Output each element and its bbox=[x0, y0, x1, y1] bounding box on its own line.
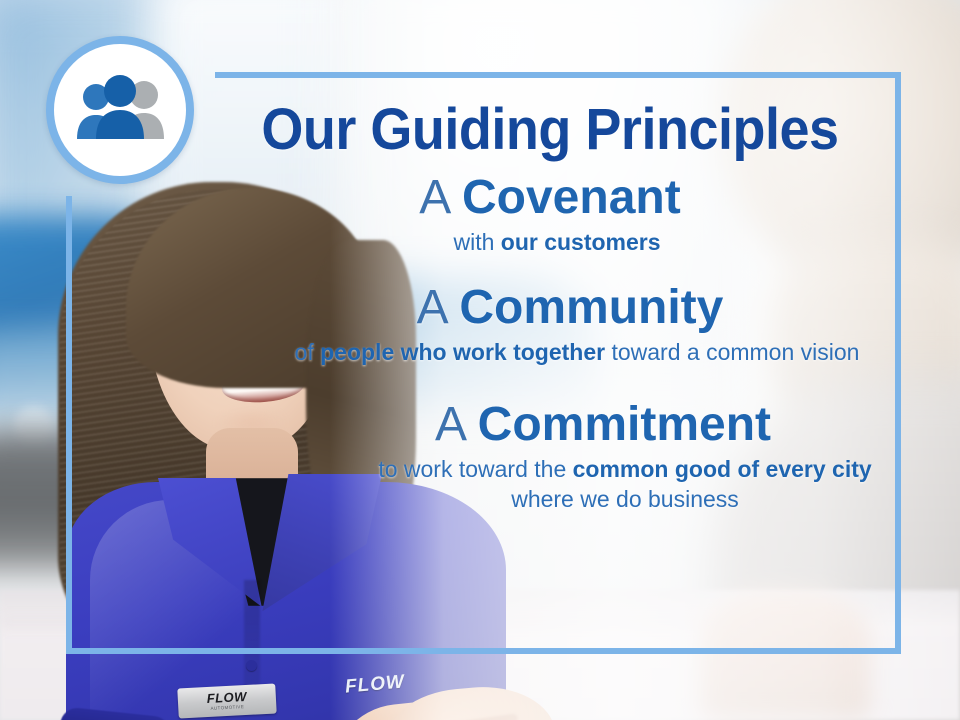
principle-covenant-heading: A Covenant bbox=[200, 173, 900, 223]
principle-covenant: A Covenant with our customers bbox=[200, 173, 900, 257]
principle-community-key: Community bbox=[459, 281, 723, 334]
principle-commitment-heading: A Commitment bbox=[200, 400, 900, 450]
guiding-principles-graphic: FLOW AUTOMOTIVE FLOW bbox=[0, 0, 960, 720]
principle-commitment-body: to work toward the common good of every … bbox=[200, 454, 900, 515]
principle-covenant-key: Covenant bbox=[462, 171, 681, 224]
name-badge-subtext: AUTOMOTIVE bbox=[210, 705, 244, 711]
page-title: Our Guiding Principles bbox=[225, 72, 876, 159]
principle-community-heading: A Community bbox=[200, 283, 900, 333]
principle-community-body: of people who work together toward a com… bbox=[200, 337, 900, 367]
principle-community-body-bold: people who work together bbox=[320, 339, 605, 365]
shirt-button bbox=[246, 660, 257, 671]
principle-covenant-lead: A bbox=[419, 171, 462, 224]
principle-community-body-suffix: toward a common vision bbox=[605, 339, 859, 365]
principle-commitment-key: Commitment bbox=[478, 398, 771, 451]
name-badge-brand: FLOW bbox=[206, 690, 247, 705]
principle-commitment-lead: A bbox=[435, 398, 478, 451]
principle-covenant-body-prefix: with bbox=[453, 229, 500, 255]
principle-community-lead: A bbox=[417, 281, 460, 334]
frame-border-left bbox=[66, 196, 72, 654]
principle-covenant-body-bold: our customers bbox=[501, 229, 661, 255]
principle-commitment: A Commitment to work toward the common g… bbox=[200, 400, 900, 515]
principles-text-block: Our Guiding Principles A Covenant with o… bbox=[200, 72, 900, 652]
principle-community: A Community of people who work together … bbox=[200, 283, 900, 367]
principle-commitment-body-prefix: to work toward the bbox=[378, 456, 572, 482]
name-badge: FLOW AUTOMOTIVE bbox=[177, 683, 276, 718]
principle-covenant-body: with our customers bbox=[200, 227, 900, 257]
principle-commitment-body-bold: common good of every city bbox=[573, 456, 872, 482]
principle-community-body-prefix: of bbox=[295, 339, 321, 365]
group-of-people-icon bbox=[46, 36, 194, 184]
principle-commitment-body-suffix: where we do business bbox=[511, 486, 739, 512]
